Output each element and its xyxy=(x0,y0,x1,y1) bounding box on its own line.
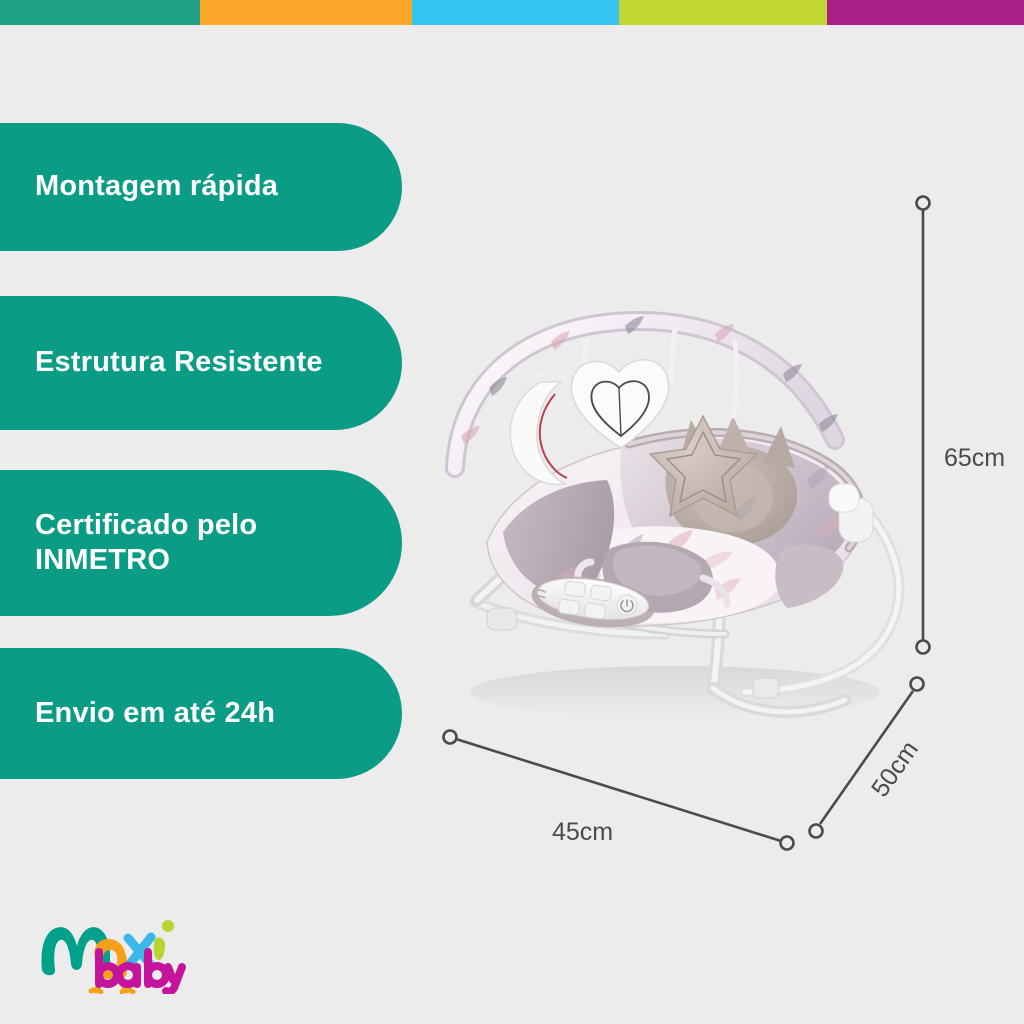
color-bar-segment-orange xyxy=(200,0,412,25)
color-bar-segment-teal xyxy=(0,0,200,25)
color-bar-segment-lime xyxy=(619,0,827,25)
feature-label: Certificado pelo INMETRO xyxy=(35,508,257,579)
decorative-color-bar xyxy=(0,0,1024,25)
side-cushion-right xyxy=(775,544,843,608)
color-bar-segment-magenta xyxy=(827,0,1024,25)
panel-button-music xyxy=(590,585,612,602)
feature-pill-envio-24h: Envio em até 24h xyxy=(0,648,402,779)
feature-label: Envio em até 24h xyxy=(35,696,275,731)
panel-button-volume-up xyxy=(584,603,606,620)
moon-toy xyxy=(510,373,567,485)
logo-letter-i xyxy=(154,920,174,960)
dimension-label-width: 45cm xyxy=(552,818,613,847)
panel-button-volume-down xyxy=(558,599,580,616)
dimension-label-height: 65cm xyxy=(944,444,1005,473)
feature-label: Estrutura Resistente xyxy=(35,345,323,380)
feature-pill-montagem-rapida: Montagem rápida xyxy=(0,123,402,251)
feature-label: Montagem rápida xyxy=(35,169,278,204)
color-bar-segment-blue xyxy=(412,0,620,25)
maxi-baby-logo xyxy=(36,912,186,994)
feature-pill-certificado-inmetro: Certificado pelo INMETRO xyxy=(0,470,402,616)
panel-button-vibration xyxy=(564,581,586,598)
feature-pill-estrutura-resistente: Estrutura Resistente xyxy=(0,296,402,430)
product-image-baby-bouncer xyxy=(415,230,925,750)
